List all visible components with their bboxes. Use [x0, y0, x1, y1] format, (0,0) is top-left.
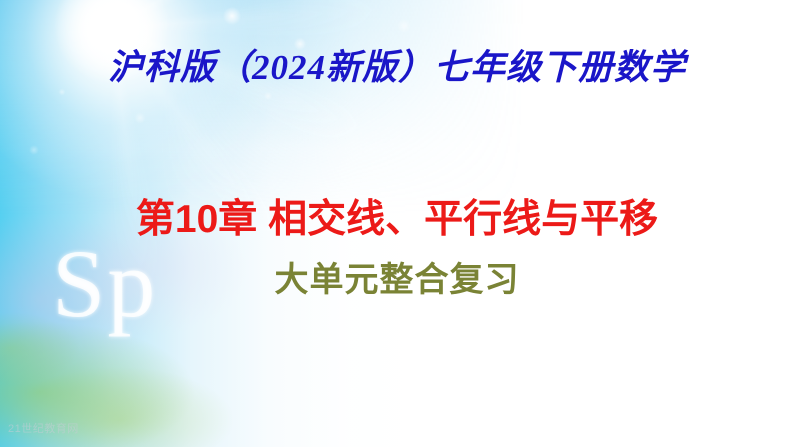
- slide-subtitle: 大单元整合复习: [0, 256, 794, 304]
- chapter-title: 第10章 相交线、平行线与平移: [0, 192, 794, 248]
- textbook-source-line: 沪科版（2024新版）七年级下册数学: [0, 44, 794, 92]
- presentation-slide: Sp 21世纪教育网 沪科版（2024新版）七年级下册数学 第10章 相交线、平…: [0, 0, 794, 447]
- slide-content: 沪科版（2024新版）七年级下册数学 第10章 相交线、平行线与平移 大单元整合…: [0, 0, 794, 447]
